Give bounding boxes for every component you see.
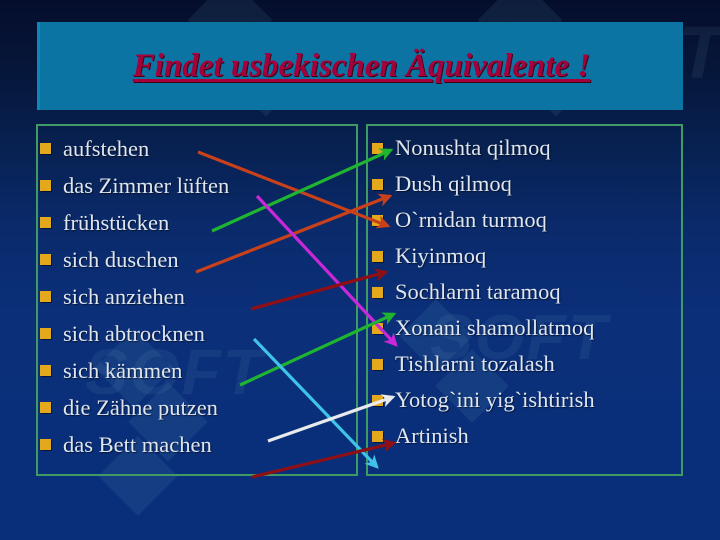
list-item[interactable]: Nonushta qilmoq (372, 130, 692, 166)
list-item-label: Sochlarni taramoq (395, 274, 692, 310)
bullet-square-icon (372, 323, 383, 334)
list-item[interactable]: Xonani shamollatmoq (372, 310, 692, 346)
bullet-square-icon (40, 291, 51, 302)
bullet-square-icon (372, 359, 383, 370)
list-item-label: Tishlarni tozalash (395, 346, 692, 382)
list-item-label: Dush qilmoq (395, 166, 692, 202)
list-item[interactable]: frühstücken (40, 204, 370, 241)
list-item-label: das Zimmer lüften (63, 167, 370, 204)
bullet-square-icon (372, 395, 383, 406)
list-item-label: sich abtrocknen (63, 315, 370, 352)
list-item-label: sich kämmen (63, 352, 370, 389)
list-item[interactable]: sich anziehen (40, 278, 370, 315)
bullet-square-icon (40, 365, 51, 376)
german-verb-list: aufstehen das Zimmer lüften frühstücken … (40, 130, 370, 463)
list-item[interactable]: das Zimmer lüften (40, 167, 370, 204)
list-item[interactable]: sich duschen (40, 241, 370, 278)
bullet-square-icon (372, 251, 383, 262)
bullet-square-icon (40, 217, 51, 228)
bullet-square-icon (40, 328, 51, 339)
bullet-square-icon (40, 439, 51, 450)
bullet-square-icon (372, 143, 383, 154)
list-item[interactable]: Yotog`ini yig`ishtirish (372, 382, 692, 418)
list-item[interactable]: das Bett machen (40, 426, 370, 463)
list-item-label: sich anziehen (63, 278, 370, 315)
bullet-square-icon (40, 402, 51, 413)
bullet-square-icon (372, 179, 383, 190)
list-item-label: Kiyinmoq (395, 238, 692, 274)
bullet-square-icon (372, 287, 383, 298)
bullet-square-icon (40, 180, 51, 191)
list-item-label: die Zähne putzen (63, 389, 370, 426)
list-item-label: aufstehen (63, 130, 370, 167)
bullet-square-icon (372, 431, 383, 442)
title-box: Findet usbekischen Äquivalente ! (37, 22, 683, 110)
uzbek-verb-list: Nonushta qilmoq Dush qilmoq O`rnidan tur… (372, 130, 692, 454)
list-item[interactable]: sich kämmen (40, 352, 370, 389)
list-item-label: frühstücken (63, 204, 370, 241)
list-item[interactable]: O`rnidan turmoq (372, 202, 692, 238)
list-item[interactable]: sich abtrocknen (40, 315, 370, 352)
list-item[interactable]: Dush qilmoq (372, 166, 692, 202)
list-item-label: Nonushta qilmoq (395, 130, 692, 166)
list-item[interactable]: Kiyinmoq (372, 238, 692, 274)
list-item-label: sich duschen (63, 241, 370, 278)
list-item-label: Artinish (395, 418, 692, 454)
bullet-square-icon (40, 254, 51, 265)
bullet-square-icon (372, 215, 383, 226)
slide: SOFT SOFT SOFT SOFT Findet usbekischen Ä… (0, 0, 720, 540)
bullet-square-icon (40, 143, 51, 154)
list-item[interactable]: die Zähne putzen (40, 389, 370, 426)
page-title: Findet usbekischen Äquivalente ! (133, 46, 590, 86)
list-item-label: O`rnidan turmoq (395, 202, 692, 238)
list-item[interactable]: aufstehen (40, 130, 370, 167)
list-item-label: Yotog`ini yig`ishtirish (395, 382, 692, 418)
list-item[interactable]: Artinish (372, 418, 692, 454)
list-item[interactable]: Sochlarni taramoq (372, 274, 692, 310)
list-item-label: das Bett machen (63, 426, 370, 463)
list-item-label: Xonani shamollatmoq (395, 310, 692, 346)
list-item[interactable]: Tishlarni tozalash (372, 346, 692, 382)
